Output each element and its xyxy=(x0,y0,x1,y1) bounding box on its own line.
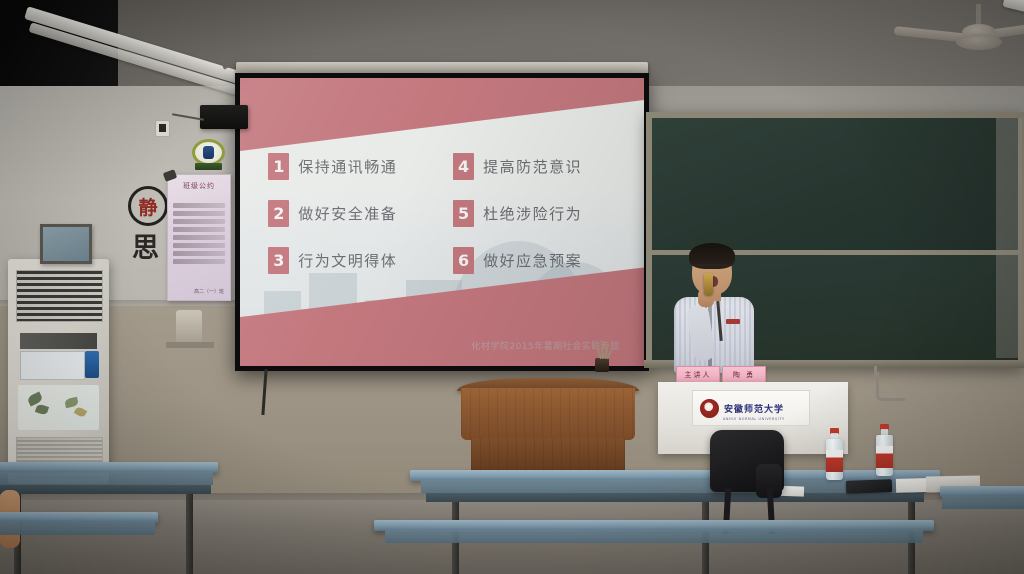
slide-top-band xyxy=(240,78,644,153)
ac-leaf xyxy=(73,406,87,418)
water-bottle xyxy=(876,424,893,476)
desk-leg xyxy=(186,494,193,574)
mobile-device xyxy=(846,479,892,494)
slide-item: 4 提高防范意识 xyxy=(453,144,624,188)
socket-hole xyxy=(159,124,166,132)
podium-base xyxy=(471,438,625,474)
framed-picture xyxy=(40,224,92,264)
desk-apron xyxy=(0,522,155,535)
wall-socket xyxy=(155,120,170,137)
desk-shelf xyxy=(0,485,211,494)
desk-shelf xyxy=(426,493,924,502)
air-conditioner xyxy=(8,259,109,484)
slide-item: 1 保持通讯畅通 xyxy=(268,144,439,188)
wall-shelf xyxy=(166,342,214,348)
wall-poster: 班级公约 高二（一）班 xyxy=(167,174,231,301)
slide-item-number: 1 xyxy=(268,153,289,180)
slide-item: 6 做好应急预案 xyxy=(453,238,624,282)
slide-item-label: 杜绝涉险行为 xyxy=(483,203,582,224)
flower-vase xyxy=(595,358,609,372)
podium xyxy=(461,378,635,474)
chair xyxy=(706,430,788,534)
desk-apron xyxy=(385,530,923,543)
poster-line xyxy=(173,259,225,264)
slide-item-label: 行为文明得体 xyxy=(298,250,397,271)
university-name-cn: 安徽师范大学 xyxy=(724,402,784,415)
ac-leaf xyxy=(64,396,79,408)
emblem-ribbon xyxy=(195,163,222,170)
presenter-shirt xyxy=(674,297,754,373)
podium-body xyxy=(461,388,635,440)
calligraphy-char: 思 xyxy=(132,226,159,265)
presentation-slide: 1 保持通讯畅通 4 提高防范意识 2 做好安全准备 5 杜绝涉险行为 3 xyxy=(240,78,644,366)
slide-item-label: 提高防范意识 xyxy=(483,156,582,177)
classroom-photo: 1 保持通讯畅通 4 提高防范意识 2 做好安全准备 5 杜绝涉险行为 3 xyxy=(0,0,1024,574)
slide-item-label: 保持通讯畅通 xyxy=(298,156,397,177)
university-banner: 安徽师范大学 ANHUI NORMAL UNIVERSITY xyxy=(692,390,810,426)
poster-line xyxy=(173,243,225,248)
poster-line xyxy=(173,251,225,256)
ac-leaf xyxy=(35,404,49,416)
slide-item-number: 2 xyxy=(268,200,289,227)
slide-item-label: 做好安全准备 xyxy=(298,203,397,224)
slide-item-label: 做好应急预案 xyxy=(483,250,582,271)
bottle-label xyxy=(876,446,893,468)
poster-line xyxy=(173,227,225,232)
fan-rod xyxy=(976,4,981,26)
desk-apron xyxy=(0,472,213,485)
classroom-desk xyxy=(940,486,1024,574)
wall-speaker xyxy=(200,105,248,129)
poster-line xyxy=(173,235,225,240)
slide-item: 2 做好安全准备 xyxy=(268,191,439,235)
slide-item-number: 3 xyxy=(268,247,289,274)
slide-item: 3 行为文明得体 xyxy=(268,238,439,282)
classroom-desk xyxy=(0,512,158,574)
poster-line xyxy=(173,211,225,216)
projection-screen: 1 保持通讯畅通 4 提高防范意识 2 做好安全准备 5 杜绝涉险行为 3 xyxy=(235,73,649,371)
poster-line xyxy=(173,219,225,224)
poster-title: 班级公约 xyxy=(168,181,230,191)
wall-emblem-icon xyxy=(192,139,225,170)
calligraphy-circle-char: 静 xyxy=(128,186,168,226)
water-bottle xyxy=(826,428,843,480)
desk-apron xyxy=(942,496,1024,509)
university-name-en: ANHUI NORMAL UNIVERSITY xyxy=(723,417,785,421)
ac-energy-badge xyxy=(85,351,99,378)
bottle-label xyxy=(826,450,843,472)
fan-hub-lower xyxy=(956,34,1002,50)
poster-body-lines xyxy=(173,203,225,281)
university-logo-icon xyxy=(700,399,719,418)
shelf-object xyxy=(176,310,202,344)
shirt-pocket-logo xyxy=(726,319,740,324)
classroom-desk xyxy=(374,520,934,574)
poster-signature: 高二（一）班 xyxy=(194,288,224,295)
slide-item-number: 4 xyxy=(453,153,474,180)
slide-item-number: 6 xyxy=(453,247,474,274)
calligraphy-decor: 静 思 宁静致远 xyxy=(126,186,170,272)
ac-decor-panel xyxy=(18,385,99,430)
presenter-person xyxy=(668,243,760,373)
blackboard-side-panel xyxy=(996,118,1022,358)
emblem-core xyxy=(203,146,214,159)
slide-item: 5 杜绝涉险行为 xyxy=(453,191,624,235)
microphone-icon xyxy=(704,273,713,295)
slide-item-number: 5 xyxy=(453,200,474,227)
ac-top-vent xyxy=(16,270,103,322)
ac-control-panel xyxy=(20,351,85,380)
poster-line xyxy=(173,203,225,208)
blackboard-upper-panel xyxy=(652,118,1018,255)
slide-items-grid: 1 保持通讯畅通 4 提高防范意识 2 做好安全准备 5 杜绝涉险行为 3 xyxy=(268,144,624,282)
ac-brand-label xyxy=(20,333,97,349)
ceiling-fan xyxy=(930,4,1024,62)
glasses-icon xyxy=(694,264,730,273)
wall-hook-icon xyxy=(876,372,905,401)
